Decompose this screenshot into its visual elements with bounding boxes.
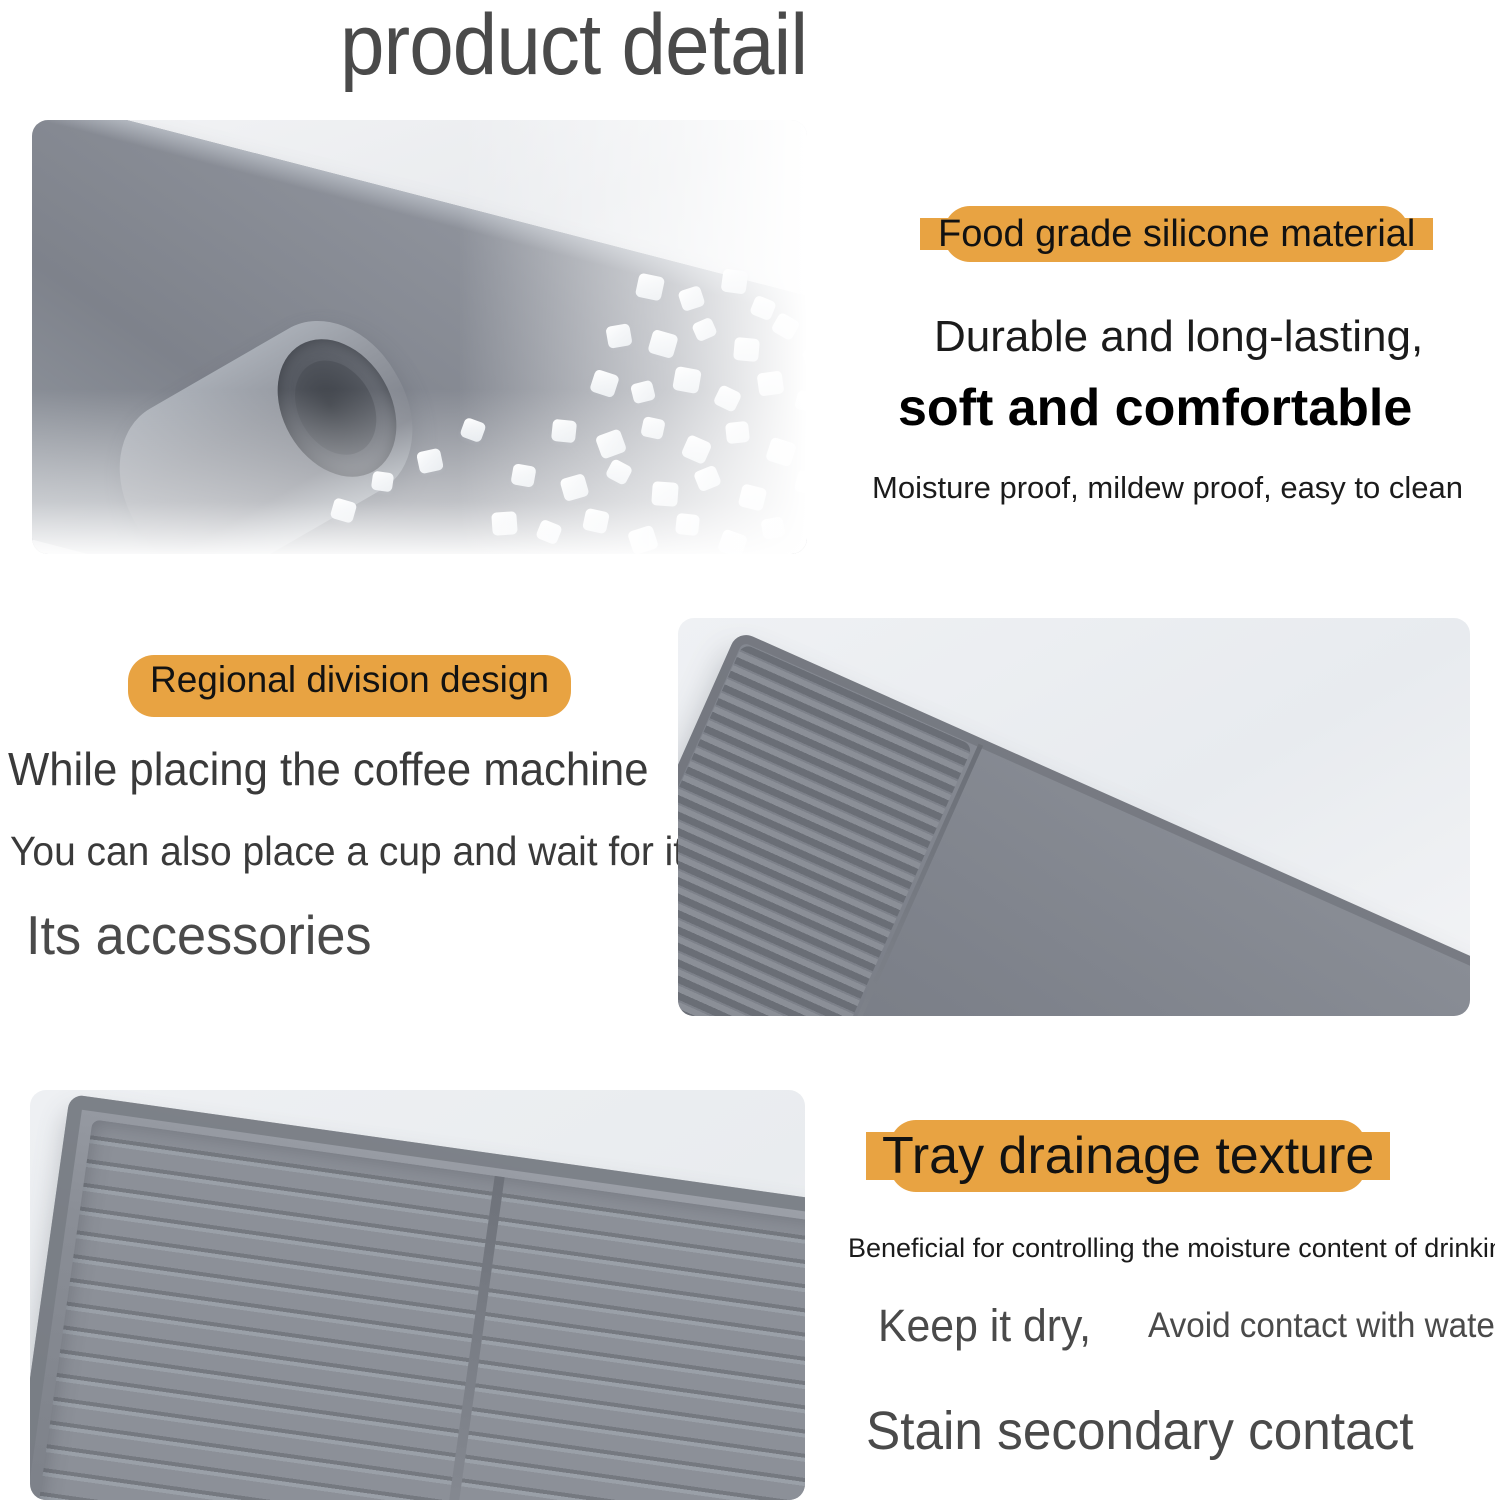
pellet — [559, 473, 589, 502]
badge-food-grade: Food grade silicone material — [920, 206, 1433, 262]
feature-text-place-cup: You can also place a cup and wait for it — [10, 828, 684, 875]
pellet — [760, 516, 785, 540]
pellet — [725, 421, 750, 444]
pellet — [651, 481, 679, 507]
pellet — [589, 369, 620, 399]
product-image-divided-mat — [678, 618, 1470, 1016]
pellet — [794, 469, 807, 496]
pellet — [691, 317, 718, 343]
feature-text-its-accessories: Its accessories — [26, 903, 372, 967]
pellet — [802, 345, 807, 370]
pellet — [794, 390, 807, 414]
badge-food-grade-label: Food grade silicone material — [938, 206, 1415, 262]
feature-text-moisture-control: Beneficial for controlling the moisture … — [848, 1233, 1495, 1264]
pellet — [582, 508, 610, 535]
pellet — [605, 323, 632, 349]
pellet — [680, 434, 712, 465]
pellet — [672, 366, 702, 394]
pellet — [733, 337, 760, 362]
pellet — [595, 428, 628, 459]
pellet — [738, 483, 768, 511]
pellet — [630, 380, 656, 405]
pellet — [693, 464, 722, 492]
drainage-tray-graphic — [30, 1094, 805, 1500]
pellet — [721, 268, 749, 294]
pellet — [635, 273, 665, 302]
pellet — [749, 295, 777, 322]
pellet — [535, 519, 563, 546]
feature-text-avoid-water: Avoid contact with water — [1148, 1306, 1495, 1346]
badge-tray-drainage: Tray drainage texture — [866, 1120, 1390, 1192]
product-image-drainage-tray — [30, 1090, 805, 1500]
pellet — [371, 471, 394, 493]
page-title: product detail — [340, 0, 807, 95]
feature-text-stain-secondary: Stain secondary contact — [866, 1400, 1414, 1462]
feature-text-keep-dry: Keep it dry, — [878, 1300, 1091, 1352]
pellet — [757, 370, 785, 396]
pellet — [770, 312, 800, 342]
pellet — [416, 448, 444, 475]
pellet — [640, 416, 666, 440]
silicone-pellets-graphic — [32, 120, 807, 554]
badge-regional-division-label: Regional division design — [150, 655, 549, 705]
feature-text-moisture-proof: Moisture proof, mildew proof, easy to cl… — [872, 470, 1463, 506]
pellet — [717, 528, 748, 554]
pellet — [459, 417, 487, 443]
feature-text-soft-comfortable: soft and comfortable — [898, 378, 1412, 438]
pellet — [713, 384, 743, 413]
badge-regional-division: Regional division design — [128, 655, 571, 717]
divided-mat-graphic — [678, 630, 1470, 1016]
pellet — [627, 525, 659, 554]
pellet — [551, 419, 577, 443]
pellet — [675, 513, 700, 536]
pellet — [677, 285, 705, 312]
pellet — [491, 511, 518, 536]
pellet — [510, 463, 536, 488]
pellet — [330, 497, 358, 524]
feature-text-coffee-machine: While placing the coffee machine — [8, 742, 649, 796]
product-image-rolled-mat — [32, 120, 807, 554]
pellet — [765, 437, 797, 468]
badge-tray-drainage-label: Tray drainage texture — [882, 1120, 1374, 1192]
feature-text-durable: Durable and long-lasting, — [934, 312, 1423, 362]
pellet — [647, 329, 679, 359]
pellet — [605, 458, 634, 486]
